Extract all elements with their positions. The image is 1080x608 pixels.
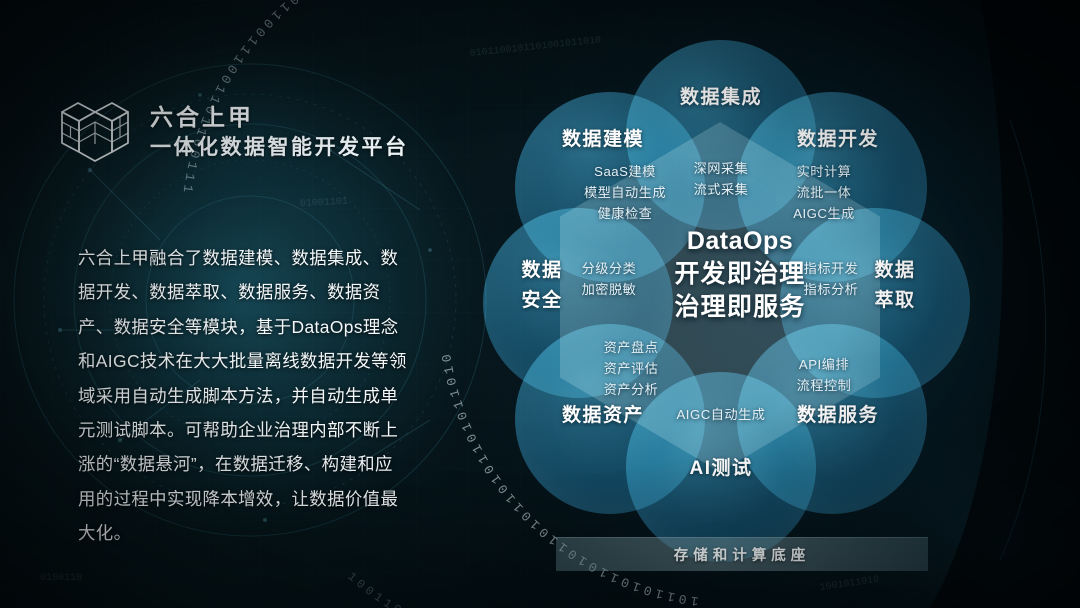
svg-text:0100110: 0100110	[40, 573, 82, 584]
node-label-data-modeling: 数据建模	[532, 128, 674, 152]
node-items-data-modeling: SaaS建模 模型自动生成 健康检查	[557, 161, 693, 224]
brand-subtitle: 一体化数据智能开发平台	[150, 136, 409, 159]
item: 实时计算	[756, 161, 892, 182]
slide-canvas: 10110101101011010110101101011010 0110011…	[0, 0, 1080, 608]
brand-name: 六合上甲	[150, 105, 409, 130]
node-label-data-integration: 数据集成	[650, 86, 792, 110]
foundation-bar-label: 存储和计算底座	[674, 544, 811, 565]
node-label-ai-testing: AI测试	[650, 457, 792, 481]
node-items-data-service: API编排 流程控制	[756, 354, 892, 396]
isometric-brick-cube-icon	[58, 92, 132, 172]
foundation-bar[interactable]: 存储和计算底座	[556, 537, 928, 571]
brand-block: 六合上甲 一体化数据智能开发平台	[58, 92, 409, 172]
node-label-data-development: 数据开发	[767, 128, 909, 152]
node-items-data-development: 实时计算 流批一体 AIGC生成	[756, 161, 892, 224]
item: AIGC生成	[756, 203, 892, 224]
item: 分级分类	[554, 258, 664, 279]
item: 指标分析	[776, 279, 886, 300]
item: 资产分析	[563, 379, 699, 400]
description-paragraph: 六合上甲融合了数据建模、数据集成、数据开发、数据萃取、数据服务、数据资产、数据安…	[78, 241, 408, 551]
item: 加密脱敏	[554, 279, 664, 300]
node-items-data-asset: 资产盘点 资产评估 资产分析	[563, 337, 699, 400]
item: SaaS建模	[557, 161, 693, 182]
item: 指标开发	[776, 258, 886, 279]
item: 资产盘点	[563, 337, 699, 358]
item: 模型自动生成	[557, 182, 693, 203]
item: API编排	[756, 354, 892, 375]
item: 健康检查	[557, 203, 693, 224]
item: AIGC自动生成	[648, 404, 794, 425]
node-items-data-security: 分级分类 加密脱敏	[554, 258, 664, 300]
node-items-data-extraction: 指标开发 指标分析	[776, 258, 886, 300]
item: 资产评估	[563, 358, 699, 379]
capability-venn-diagram: DataOps 开发即治理 治理即服务 数据集成 深网采集 流式采集 数据建模 …	[460, 36, 1020, 526]
center-label-line1: DataOps	[620, 225, 860, 258]
item: 流批一体	[756, 182, 892, 203]
node-items-ai-testing: AIGC自动生成	[648, 404, 794, 425]
item: 流程控制	[756, 375, 892, 396]
svg-text:10011010110010110100110: 10011010110010110100110	[345, 570, 588, 608]
